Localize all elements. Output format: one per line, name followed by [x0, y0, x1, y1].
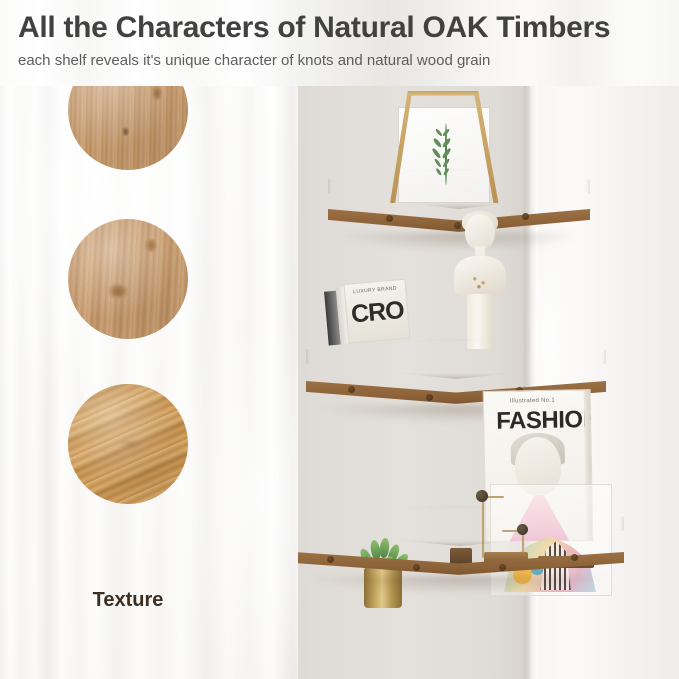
swatch-label-texture: Texture	[0, 589, 256, 612]
wood-swatch-texture	[68, 384, 188, 504]
shelf-plug	[413, 564, 420, 571]
shelf-top-surface	[298, 506, 624, 546]
shelf-plug	[348, 386, 355, 393]
shelf-plug	[327, 556, 334, 563]
product-infographic: All the Characters of Natural OAK Timber…	[0, 0, 679, 679]
book-title-text: CRO	[350, 296, 405, 329]
wire-stand-knob	[476, 490, 488, 502]
book-cover: LUXURY BRAND CRO	[343, 279, 410, 344]
shelf-top-surface	[328, 169, 590, 209]
product-photo: LUXURY BRAND CRO Illustrated No.1 FASHIO…	[298, 86, 679, 679]
page-subtitle: each shelf reveals it's unique character…	[18, 52, 490, 69]
shelf-top-surface	[306, 339, 606, 379]
shelf-plug	[499, 564, 506, 571]
shelf-drop-shadow	[307, 576, 611, 594]
header-banner: All the Characters of Natural OAK Timber…	[0, 0, 679, 86]
swatch-sheen	[68, 384, 188, 504]
shelf-plug	[522, 213, 529, 220]
page-title: All the Characters of Natural OAK Timber…	[18, 11, 610, 45]
swatch-sheen	[68, 219, 188, 339]
shelf-plug	[426, 394, 433, 401]
decor-book-stack: LUXURY BRAND CRO	[324, 278, 413, 345]
shelf-plug	[386, 215, 393, 222]
bottom-shelf	[298, 506, 624, 578]
decor-bust-sculpture	[451, 214, 507, 349]
magazine-kicker-text: Illustrated No.1	[510, 398, 555, 405]
bust-gold-accent	[467, 270, 493, 292]
bust-head	[465, 214, 495, 250]
wood-swatch-holes	[68, 219, 188, 339]
magazine-title-text: FASHION	[496, 406, 593, 436]
book-kicker-text: LUXURY BRAND	[353, 285, 397, 295]
